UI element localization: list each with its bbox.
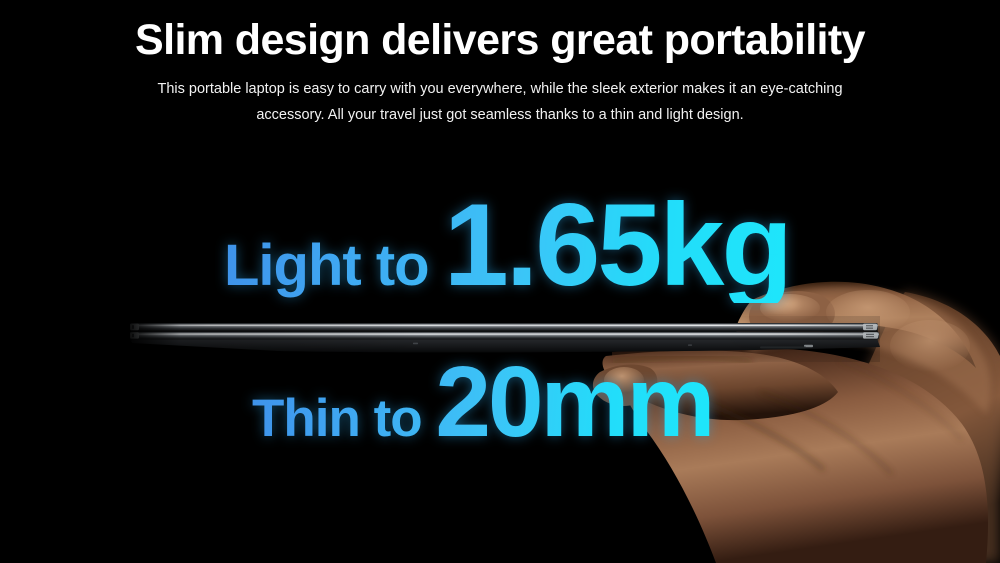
metric-thickness-value: 20mm <box>435 346 712 458</box>
subtitle-line-2: accessory. All your travel just got seam… <box>256 107 743 123</box>
metric-weight-lead: Light to <box>224 233 444 298</box>
metric-weight: Light to 1.65kg <box>224 186 790 303</box>
metric-thickness-lead: Thin to <box>252 389 435 448</box>
promo-banner: Light to 1.65kg <box>0 0 1000 563</box>
metric-thickness: Thin to 20mm <box>252 352 712 452</box>
subtitle-line-1: This portable laptop is easy to carry wi… <box>157 81 842 97</box>
page-subtitle: This portable laptop is easy to carry wi… <box>150 76 850 128</box>
page-title: Slim design delivers great portability <box>0 18 1000 63</box>
metric-weight-value: 1.65kg <box>444 179 790 310</box>
